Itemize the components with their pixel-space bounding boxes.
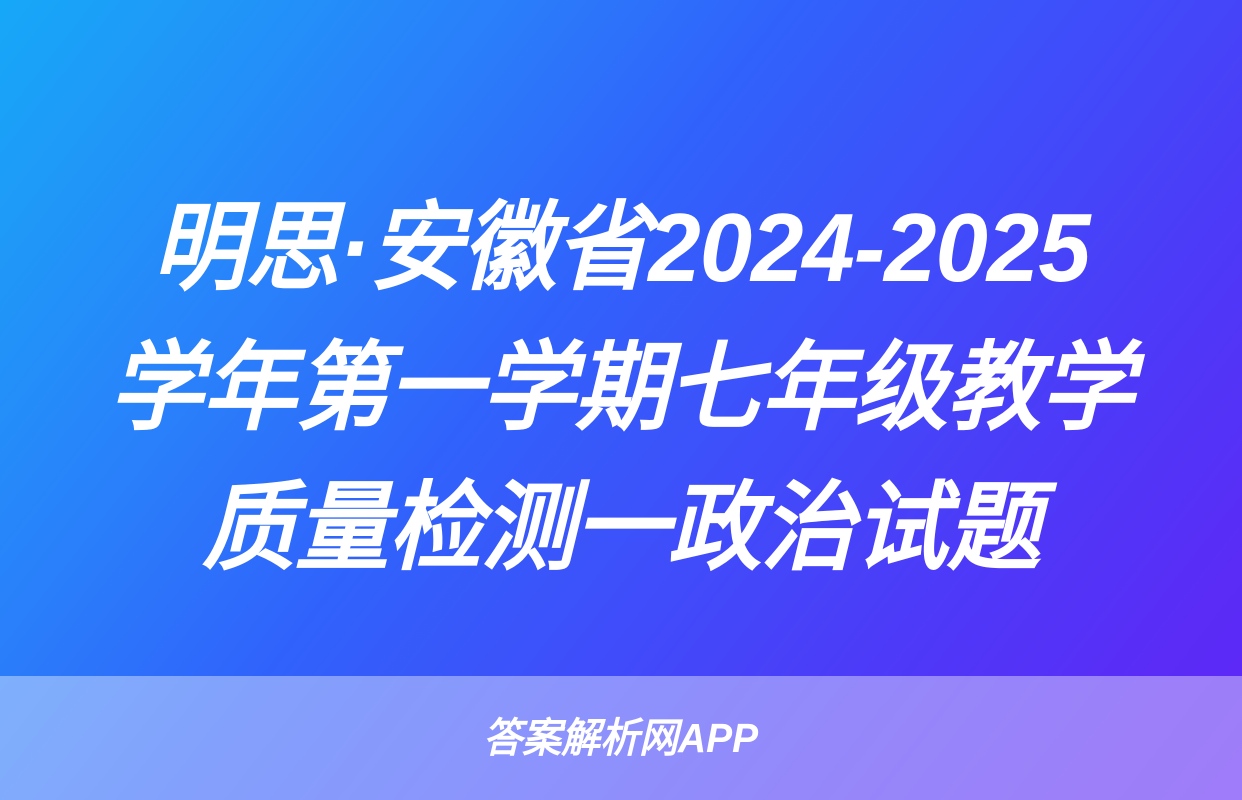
page-title: 明思·安徽省2024-2025 学年第一学期七年级教学 质量检测一政治试题: [0, 178, 1242, 598]
title-line-2: 学年第一学期七年级教学: [57, 318, 1184, 458]
title-line-3: 质量检测一政治试题: [57, 458, 1184, 598]
title-line-1: 明思·安徽省2024-2025: [57, 178, 1184, 318]
watermark-label: 答案解析网APP: [484, 718, 759, 759]
exam-cover-poster: 明思·安徽省2024-2025 学年第一学期七年级教学 质量检测一政治试题 答案…: [0, 0, 1242, 800]
watermark-band: 答案解析网APP: [0, 676, 1242, 800]
